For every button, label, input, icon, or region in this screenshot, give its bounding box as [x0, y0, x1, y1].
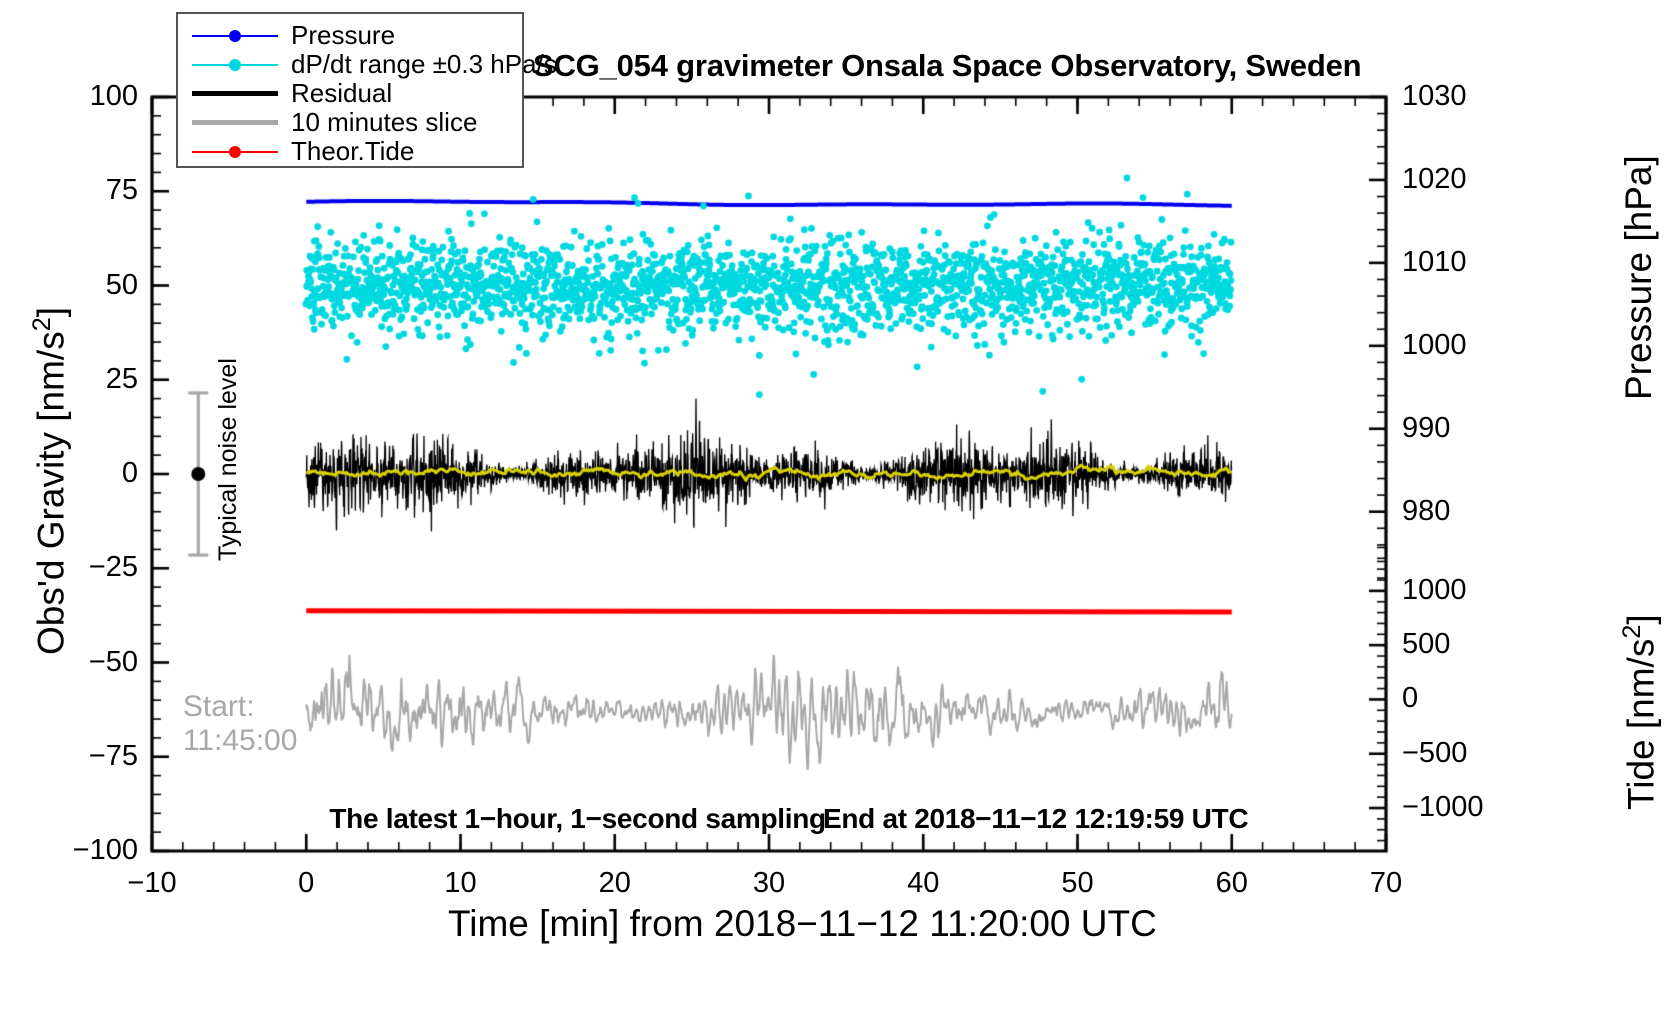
- x-tick-label: 20: [525, 869, 705, 898]
- sampling-note: The latest 1−hour, 1−second sampling: [329, 805, 825, 833]
- pressure-tick-label: 1030: [1402, 82, 1467, 111]
- legend-swatch: [192, 26, 278, 46]
- pressure-tick-label: 990: [1402, 414, 1450, 443]
- y-tick-label: 0: [0, 459, 138, 488]
- chart-legend: PressuredP/dt range ±0.3 hPa/sResidual10…: [176, 12, 524, 168]
- tide-tick-label: −500: [1402, 739, 1467, 768]
- legend-item-label: Residual: [291, 78, 392, 109]
- legend-swatch: [192, 55, 278, 75]
- start-label-line1: Start:: [183, 692, 255, 722]
- tide-tick-label: 0: [1402, 684, 1418, 713]
- pressure-tick-label: 1020: [1402, 165, 1467, 194]
- legend-item-label: Pressure: [291, 20, 395, 51]
- y-tick-label: −25: [0, 553, 138, 582]
- y-tick-label: −50: [0, 648, 138, 677]
- x-tick-label: 0: [216, 869, 396, 898]
- pressure-tick-label: 980: [1402, 497, 1450, 526]
- legend-item-label: dP/dt range ±0.3 hPa/s: [291, 49, 557, 80]
- y-tick-label: 100: [0, 82, 138, 111]
- typical-noise-level-label: Typical noise level: [216, 358, 241, 561]
- legend-item-label: Theor.Tide: [291, 136, 414, 167]
- x-axis-label: Time [min] from 2018−11−12 11:20:00 UTC: [448, 905, 1157, 942]
- legend-item: Theor.Tide: [178, 136, 522, 167]
- legend-swatch: [192, 142, 278, 162]
- legend-swatch: [192, 84, 278, 104]
- end-time-note: End at 2018−11−12 12:19:59 UTC: [823, 805, 1248, 833]
- x-tick-label: 30: [679, 869, 859, 898]
- pressure-tick-label: 1010: [1402, 248, 1467, 277]
- y-tick-label: 25: [0, 365, 138, 394]
- x-tick-label: 60: [1142, 869, 1322, 898]
- y-tick-label: 50: [0, 271, 138, 300]
- legend-item: 10 minutes slice: [178, 107, 522, 138]
- x-tick-label: −10: [62, 869, 242, 898]
- y-tick-label: 75: [0, 176, 138, 205]
- tide-tick-label: 500: [1402, 630, 1450, 659]
- y-tick-label: −100: [0, 836, 138, 865]
- legend-item: dP/dt range ±0.3 hPa/s: [178, 49, 522, 80]
- tide-tick-label: 1000: [1402, 576, 1467, 605]
- y-axis-label-pressure: Pressure [hPa]: [1620, 155, 1657, 400]
- legend-item-label: 10 minutes slice: [291, 107, 477, 138]
- legend-item: Residual: [178, 78, 522, 109]
- gravimeter-plot-figure: SCG_054 gravimeter Onsala Space Observat…: [0, 0, 1676, 1020]
- page-title: SCG_054 gravimeter Onsala Space Observat…: [533, 50, 1361, 81]
- y-tick-label: −75: [0, 742, 138, 771]
- x-tick-label: 10: [371, 869, 551, 898]
- x-tick-label: 50: [988, 869, 1168, 898]
- pressure-tick-label: 1000: [1402, 331, 1467, 360]
- tide-tick-label: −1000: [1402, 793, 1483, 822]
- y-axis-label-tide: Tide [nm/s2]: [1620, 614, 1659, 810]
- start-label-line2: 11:45:00: [183, 726, 298, 756]
- x-tick-label: 70: [1296, 869, 1476, 898]
- legend-swatch: [192, 113, 278, 133]
- legend-item: Pressure: [178, 20, 522, 51]
- x-tick-label: 40: [833, 869, 1013, 898]
